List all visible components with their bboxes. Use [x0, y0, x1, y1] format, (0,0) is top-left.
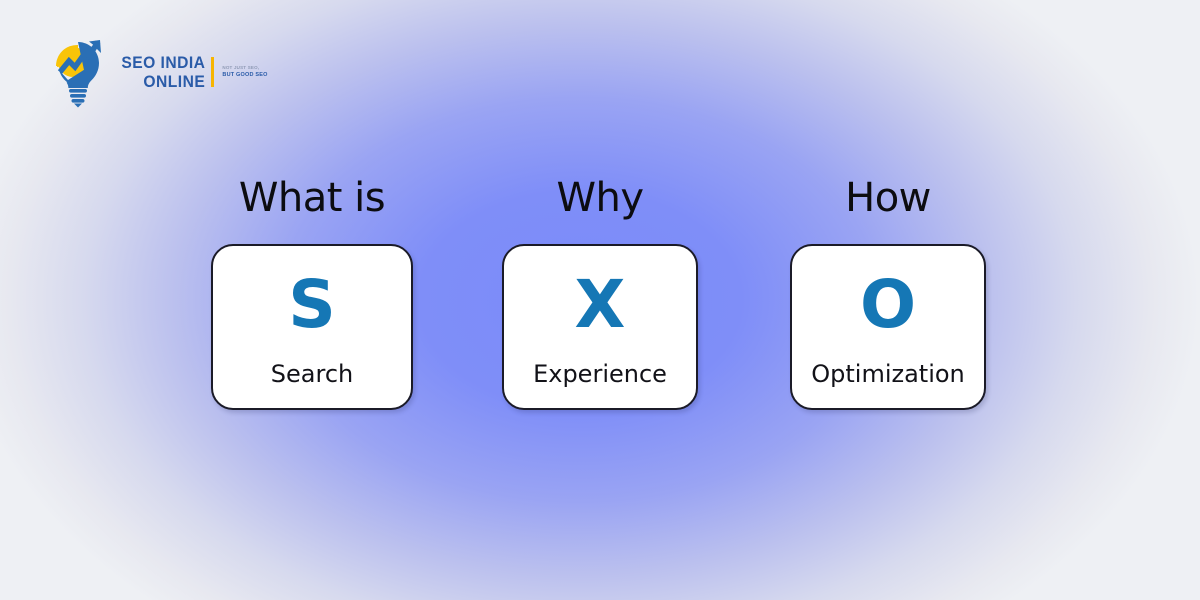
card-heading-how: How — [845, 178, 931, 218]
card-group-experience: Why X Experience — [499, 178, 701, 410]
card-optimization[interactable]: O Optimization — [790, 244, 986, 410]
card-heading-why: Why — [556, 178, 643, 218]
brand-wordmark: SEO INDIA ONLINE NOT JUST SEO, BUT GOOD … — [114, 54, 268, 90]
card-group-optimization: How O Optimization — [787, 178, 989, 410]
brand-name-line2: ONLINE — [144, 73, 206, 90]
card-experience[interactable]: X Experience — [502, 244, 698, 410]
card-label-search: Search — [271, 362, 353, 386]
card-letter-o: O — [860, 272, 916, 338]
brand-tagline: NOT JUST SEO, BUT GOOD SEO — [222, 66, 267, 78]
card-label-optimization: Optimization — [811, 362, 965, 386]
card-search[interactable]: S Search — [211, 244, 413, 410]
card-letter-s: S — [288, 272, 336, 338]
card-group-search: What is S Search — [211, 178, 413, 410]
brand-logo[interactable]: SEO INDIA ONLINE NOT JUST SEO, BUT GOOD … — [48, 36, 268, 108]
sxo-infographic: SEO INDIA ONLINE NOT JUST SEO, BUT GOOD … — [0, 0, 1200, 600]
logo-divider — [211, 57, 214, 87]
brand-name-line1: SEO INDIA — [121, 54, 205, 71]
card-letter-x: X — [575, 272, 626, 338]
card-label-experience: Experience — [533, 362, 667, 386]
sxo-cards-row: What is S Search Why X Experience How O … — [0, 178, 1200, 410]
lightbulb-growth-chart-icon — [48, 36, 108, 108]
brand-tagline-line2: BUT GOOD SEO — [222, 72, 267, 78]
card-heading-what-is: What is — [239, 178, 385, 218]
brand-tagline-line1: NOT JUST SEO, — [222, 66, 267, 71]
